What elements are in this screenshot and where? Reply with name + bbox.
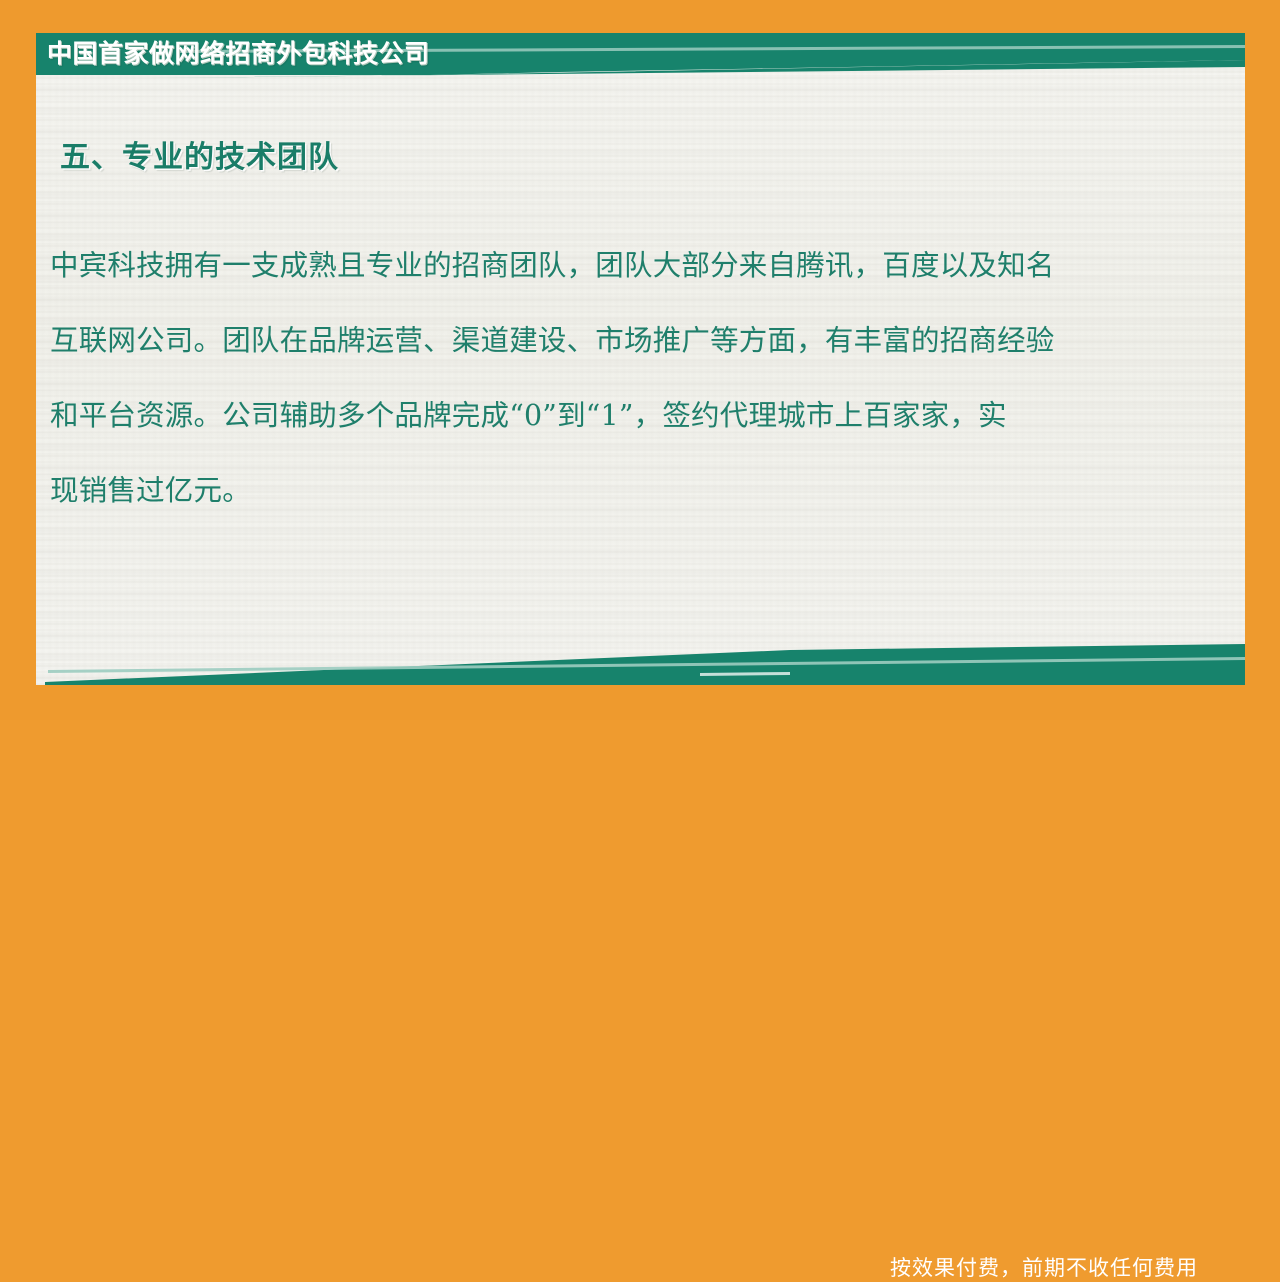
body-line-4-text: 现销售过亿元。 (50, 474, 251, 507)
body-paragraph: 中宾科技拥有一支成熟且专业的招商团队，团队大部分来自腾讯，百度以及知名 互联网公… (50, 228, 1180, 528)
body-line-1-text: 中宾科技拥有一支成熟且专业的招商团队，团队大部分来自腾讯，百度以及知名 (50, 228, 1055, 303)
footer-tagline: 按效果付费，前期不收任何费用 (890, 1254, 1198, 1282)
body-line-2-text: 互联网公司。团队在品牌运营、渠道建设、市场推广等方面，有丰富的招商经验 (50, 303, 1055, 378)
section-heading: 五、专业的技术团队 (60, 132, 339, 176)
body-line-2: 互联网公司。团队在品牌运营、渠道建设、市场推广等方面，有丰富的招商经验 (50, 303, 1180, 378)
body-line-3: 和平台资源。公司辅助多个品牌完成“0”到“1”，签约代理城市上百家家，实 (50, 378, 1180, 453)
slide-root: 中国首家做网络招商外包科技公司 五、专业的技术团队 中宾科技拥有一支成熟且专业的… (0, 0, 1280, 720)
footer-right-notch (1245, 644, 1280, 685)
header-right-notch (1245, 33, 1280, 75)
body-line-4: 现销售过亿元。 (50, 453, 1180, 528)
body-line-3-text: 和平台资源。公司辅助多个品牌完成“0”到“1”，签约代理城市上百家家，实 (50, 378, 1007, 453)
body-line-1: 中宾科技拥有一支成熟且专业的招商团队，团队大部分来自腾讯，百度以及知名 (50, 228, 1180, 303)
